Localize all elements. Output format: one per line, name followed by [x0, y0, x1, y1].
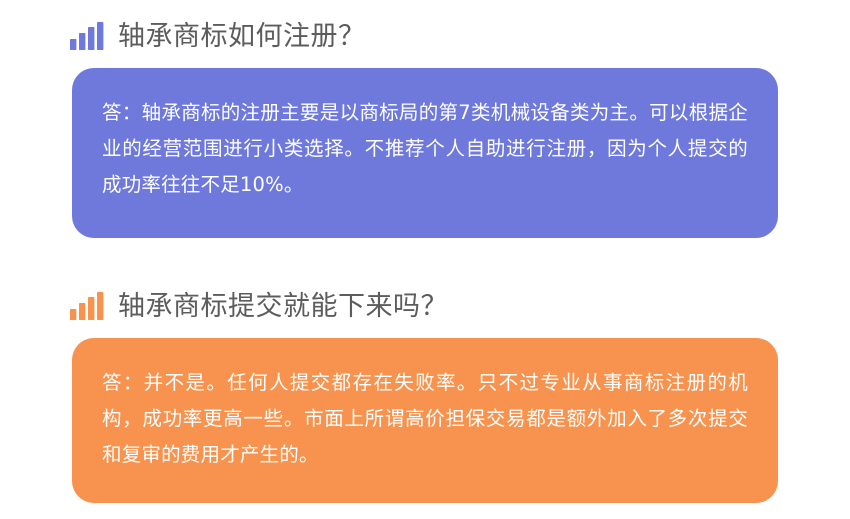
faq-section-2: 轴承商标提交就能下来吗？ 答：并不是。任何人提交都存在失败率。只不过专业从事商标…	[72, 284, 778, 503]
faq-answer-text: 答：轴承商标的注册主要是以商标局的第7类机械设备类为主。可以根据企业的经营范围进…	[102, 95, 748, 203]
faq-page: 轴承商标如何注册？ 答：轴承商标的注册主要是以商标局的第7类机械设备类为主。可以…	[0, 0, 850, 519]
faq-question-title: 轴承商标如何注册？	[118, 23, 366, 50]
faq-section-1: 轴承商标如何注册？ 答：轴承商标的注册主要是以商标局的第7类机械设备类为主。可以…	[72, 14, 778, 238]
faq-heading-1: 轴承商标如何注册？	[70, 14, 778, 58]
faq-answer-card: 答：并不是。任何人提交都存在失败率。只不过专业从事商标注册的机构，成功率更高一些…	[72, 338, 778, 503]
bar-chart-icon	[70, 22, 104, 50]
bar-chart-icon	[70, 292, 104, 320]
faq-answer-text: 答：并不是。任何人提交都存在失败率。只不过专业从事商标注册的机构，成功率更高一些…	[102, 365, 748, 473]
faq-question-title: 轴承商标提交就能下来吗？	[118, 293, 448, 320]
faq-heading-2: 轴承商标提交就能下来吗？	[70, 284, 778, 328]
faq-answer-card: 答：轴承商标的注册主要是以商标局的第7类机械设备类为主。可以根据企业的经营范围进…	[72, 68, 778, 238]
